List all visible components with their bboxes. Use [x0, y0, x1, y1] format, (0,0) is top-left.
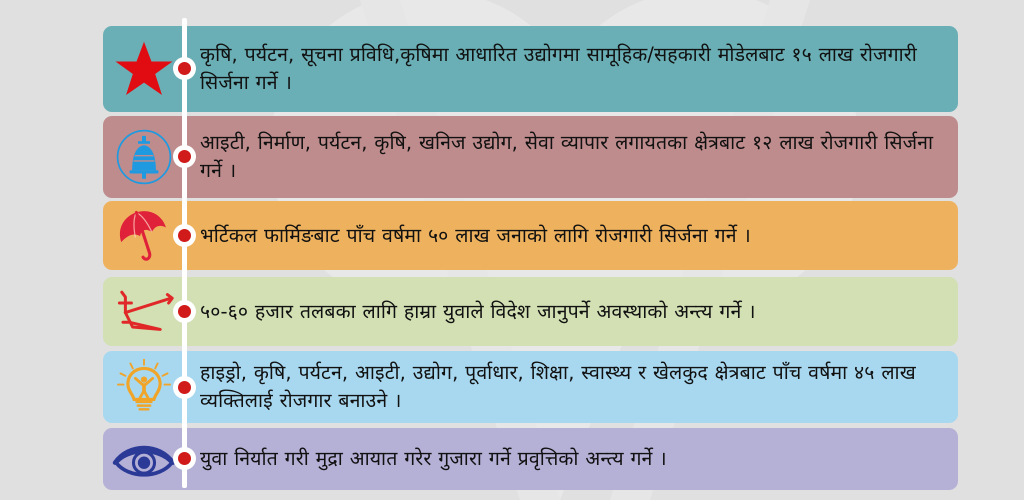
timeline-row[interactable]: भर्टिकल फार्मिङबाट पाँच वर्षमा ५० लाख जन… — [103, 201, 958, 270]
timeline-dot[interactable] — [173, 224, 196, 247]
timeline-row[interactable]: हाइड्रो, कृषि, पर्यटन, आइटी, उद्योग, पूर… — [103, 351, 958, 423]
infographic-canvas: कृषि, पर्यटन, सूचना प्रविधि,कृषिमा आधारि… — [0, 0, 1024, 500]
row-text: कृषि, पर्यटन, सूचना प्रविधि,कृषिमा आधारि… — [200, 26, 944, 112]
timeline-dot[interactable] — [173, 145, 196, 168]
row-text: भर्टिकल फार्मिङबाट पाँच वर्षमा ५० लाख जन… — [200, 201, 944, 270]
timeline-row[interactable]: युवा निर्यात गरी मुद्रा आयात गरेर गुजारा… — [103, 428, 958, 490]
row-text: आइटी, निर्माण, पर्यटन, कृषि, खनिज उद्योग… — [200, 116, 944, 198]
timeline-row[interactable]: कृषि, पर्यटन, सूचना प्रविधि,कृषिमा आधारि… — [103, 26, 958, 112]
timeline-dot[interactable] — [173, 300, 196, 323]
timeline-spine — [182, 18, 187, 488]
timeline-dot[interactable] — [173, 447, 196, 470]
row-text: ५०-६० हजार तलबका लागि हाम्रा युवाले विदे… — [200, 277, 944, 346]
timeline-row[interactable]: ५०-६० हजार तलबका लागि हाम्रा युवाले विदे… — [103, 277, 958, 346]
timeline-rows: कृषि, पर्यटन, सूचना प्रविधि,कृषिमा आधारि… — [0, 0, 1024, 500]
row-text: हाइड्रो, कृषि, पर्यटन, आइटी, उद्योग, पूर… — [200, 351, 944, 423]
row-text: युवा निर्यात गरी मुद्रा आयात गरेर गुजारा… — [200, 428, 944, 490]
timeline-dot[interactable] — [173, 376, 196, 399]
timeline-row[interactable]: आइटी, निर्माण, पर्यटन, कृषि, खनिज उद्योग… — [103, 116, 958, 198]
timeline-dot[interactable] — [173, 57, 196, 80]
